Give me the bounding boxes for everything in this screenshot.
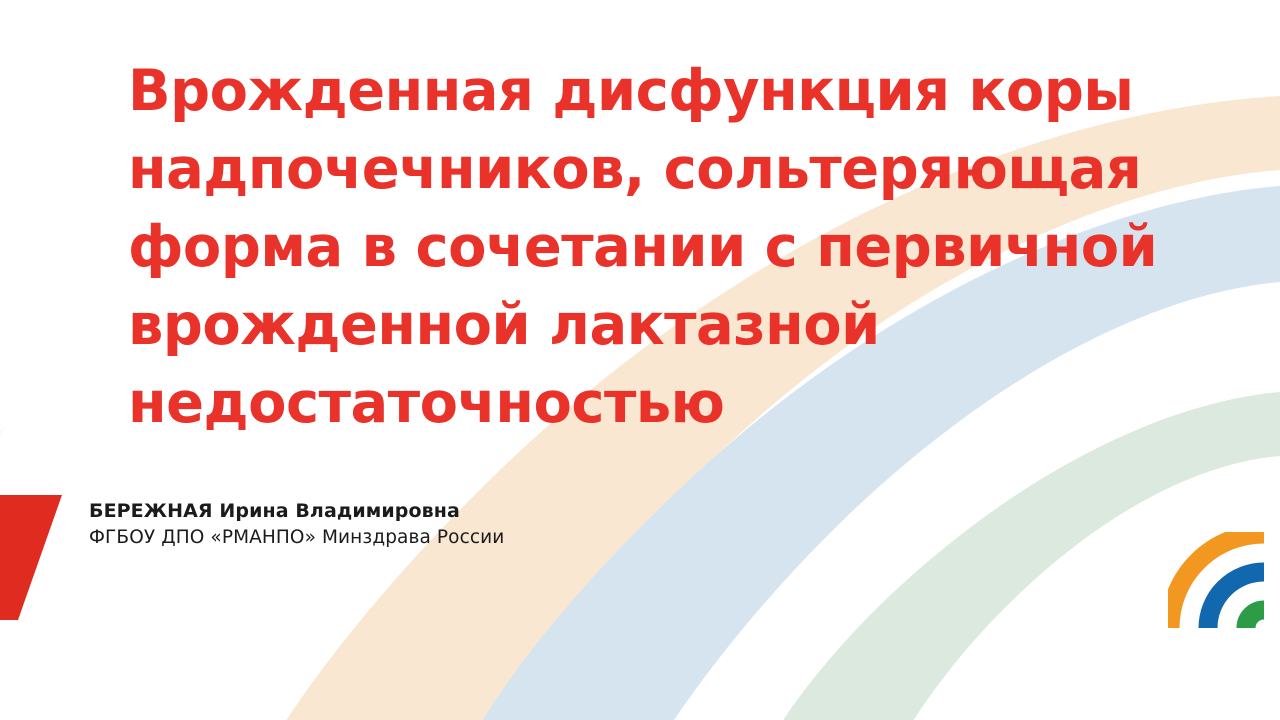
red-flag-polygon: [0, 495, 62, 620]
white-stripe-1: [0, 0, 34, 720]
peach-stripe: [0, 0, 142, 720]
rainbow-arc-logo: [1168, 532, 1280, 632]
slide-title: Врожденная дисфункция коры надпочечников…: [128, 52, 1188, 442]
title-line-2: надпочечников, сольтеряющая: [128, 130, 1167, 208]
title-slide: Врожденная дисфункция коры надпочечников…: [0, 0, 1280, 720]
author-block: БЕРЕЖНАЯ Ирина Владимировна ФГБОУ ДПО «Р…: [89, 498, 504, 552]
title-line-3: форма в сочетании с первичной: [128, 208, 1167, 286]
red-flag-shape: [0, 480, 80, 640]
title-line-5: недостаточностью: [128, 364, 1167, 442]
title-line-4: врожденной лактазной: [128, 286, 1167, 364]
title-line-1: Врожденная дисфункция коры: [128, 52, 1167, 130]
green-band: [1246, 610, 1264, 628]
author-affiliation: ФГБОУ ДПО «РМАНПО» Минздрава России: [89, 524, 504, 552]
author-name: БЕРЕЖНАЯ Ирина Владимировна: [89, 498, 504, 524]
